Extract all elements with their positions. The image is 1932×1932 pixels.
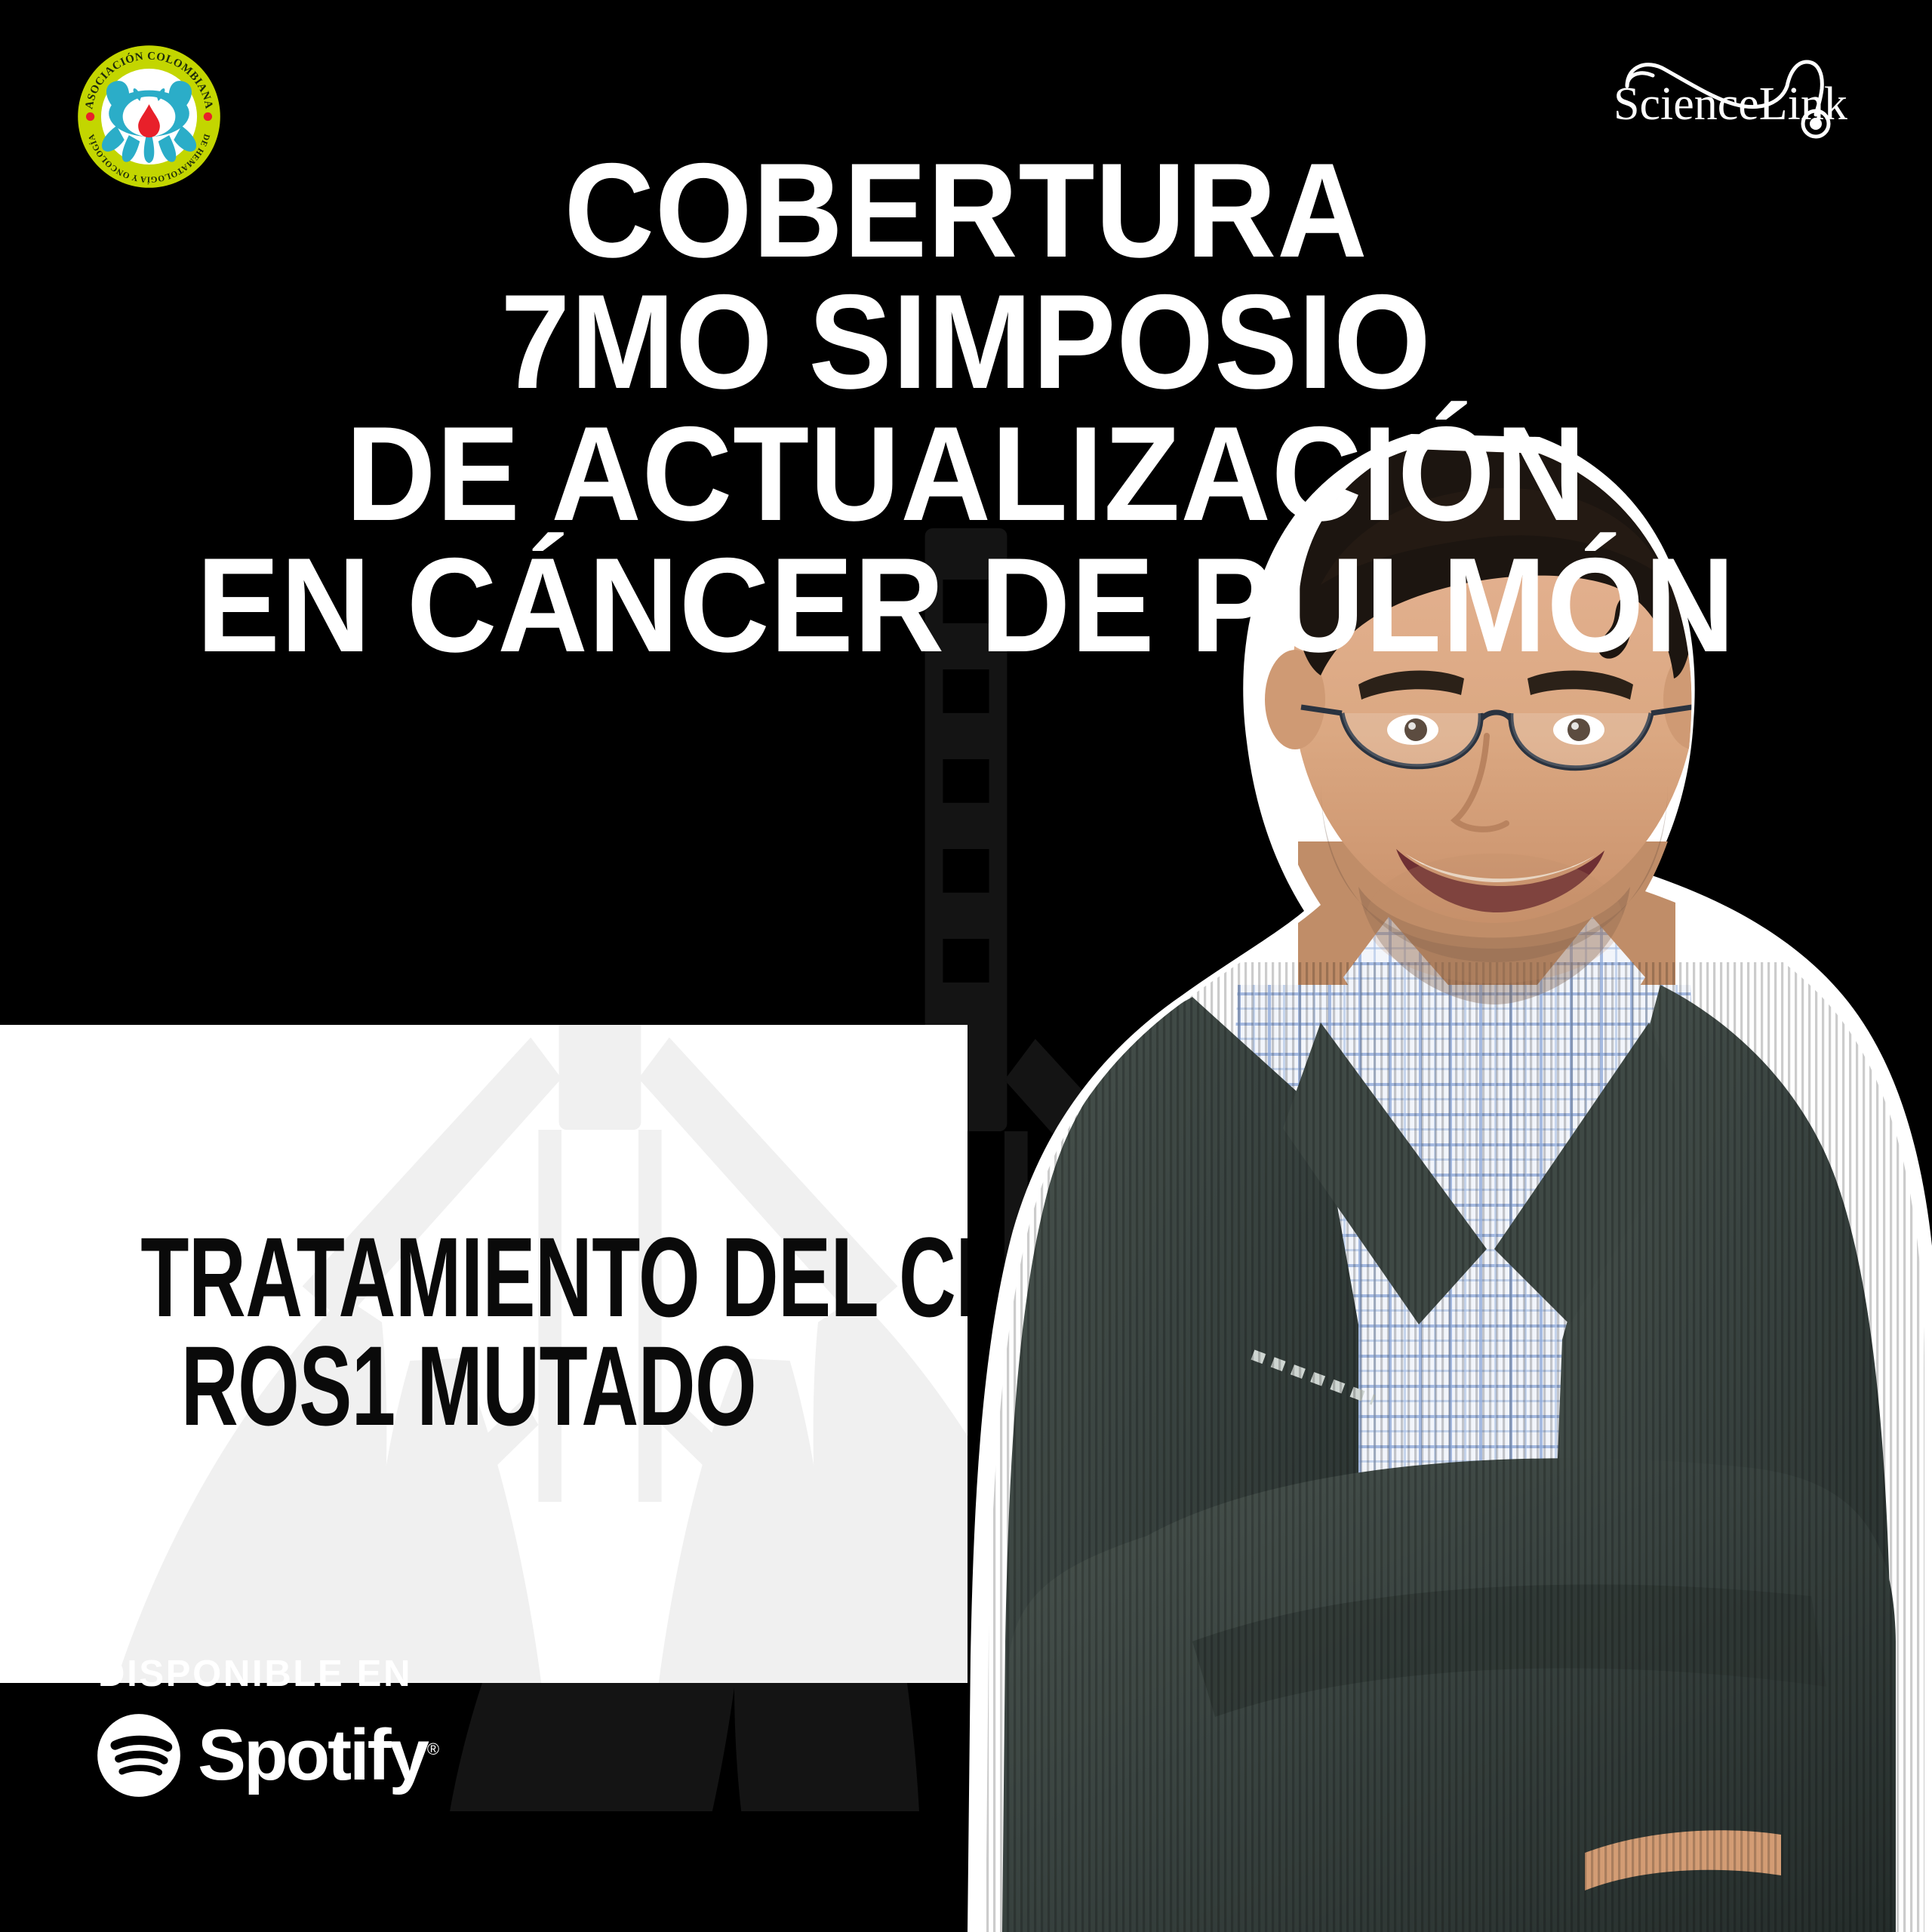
spotify-icon[interactable] [97,1713,181,1798]
title-line-3: DE ACTUALIZACIÓN [68,408,1865,540]
title-line-1: COBERTURA [68,145,1865,276]
spotify-label: Spotify [198,1715,427,1795]
spotify-badge[interactable]: Spotify® [97,1713,439,1798]
sciencelink-logo: ScienceLink [1600,36,1849,142]
subtitle: TRATAMIENTO DEL CPCNP ROS1 MUTADO [0,1223,937,1440]
subtitle-line-2: ROS1 MUTADO [140,1331,796,1440]
poster-canvas: ASOCIACIÓN COLOMBIANA DE HEMATOLOGÍA Y O… [0,0,1932,1932]
availability-block: DISPONIBLE EN Spotify® [97,1653,439,1798]
title-line-2: 7MO SIMPOSIO [68,276,1865,408]
spotify-wordmark: Spotify® [198,1719,439,1792]
title-line-4: EN CÁNCER DE PULMÓN [68,540,1865,671]
subtitle-panel: TRATAMIENTO DEL CPCNP ROS1 MUTADO [0,1025,968,1683]
registered-mark: ® [427,1740,439,1758]
availability-label: DISPONIBLE EN [98,1653,439,1695]
page-title: COBERTURA 7MO SIMPOSIO DE ACTUALIZACIÓN … [0,145,1932,672]
subtitle-line-1: TRATAMIENTO DEL CPCNP [140,1223,796,1331]
sciencelink-wordmark: ScienceLink [1614,78,1847,130]
